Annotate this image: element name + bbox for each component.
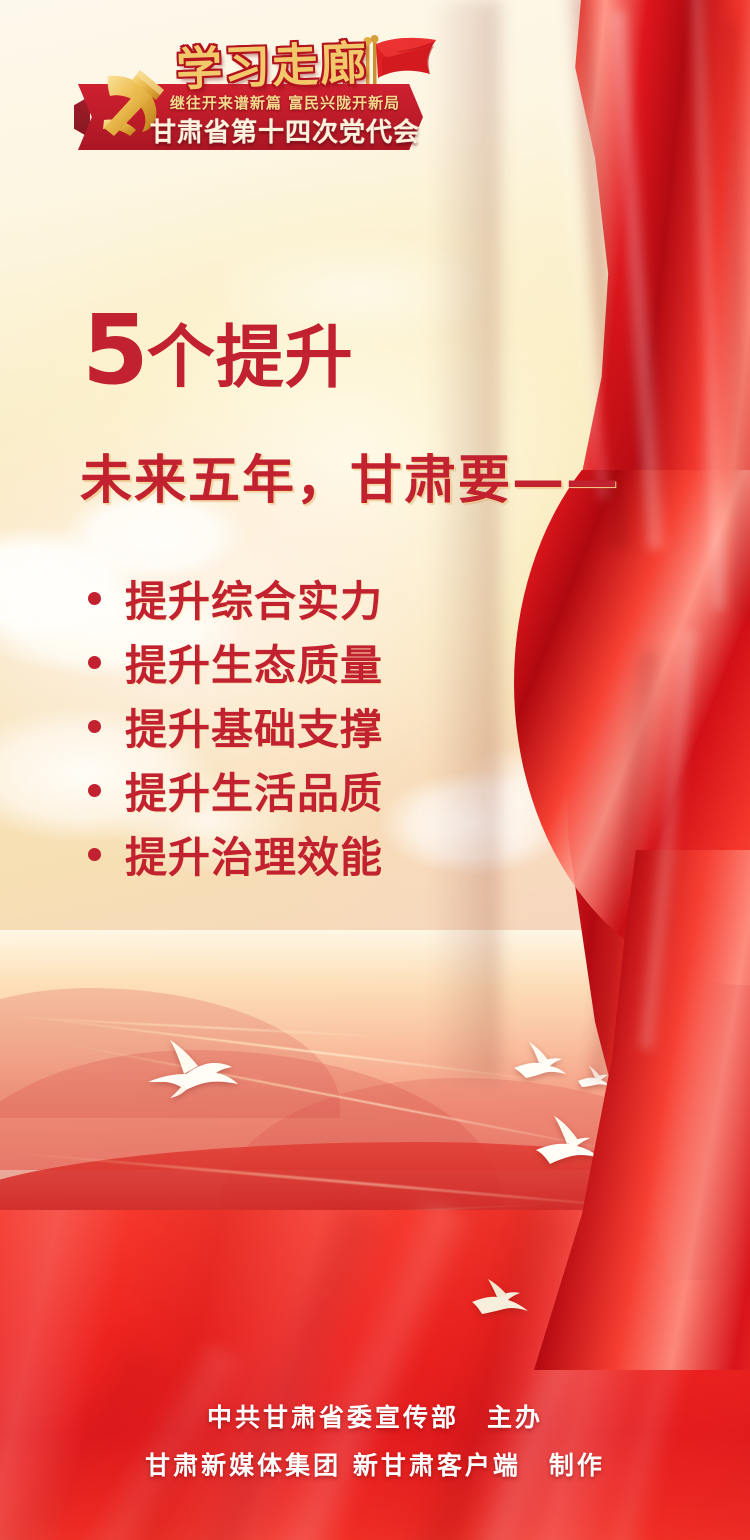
title-number: 5 [82,294,147,406]
page-subtitle: 未来五年，甘肃要—— [80,438,620,513]
bullet-dot-icon [88,784,101,797]
list-item-label: 提升生态质量 [125,632,383,693]
banner-congress-title: 甘肃省第十四次党代会 [150,112,420,149]
list-item: 提升治理效能 [88,822,508,886]
title-rest: 个提升 [147,319,354,398]
header-banner: 学习走廊 继往开来谱新篇 富民兴陇开新局 甘肃省第十四次党代会 [0,0,750,175]
list-item-label: 提升综合实力 [125,568,383,629]
list-item: 提升基础支撑 [88,694,508,758]
list-item: 提升生活品质 [88,758,508,822]
footer: 中共甘肃省委宣传部 主办 甘肃新媒体集团 新甘肃客户端 制作 [0,1398,750,1482]
bullet-dot-icon [88,656,101,669]
list-item-label: 提升生活品质 [125,760,383,821]
poster-root: 学习走廊 继往开来谱新篇 富民兴陇开新局 甘肃省第十四次党代会 5个提升 未来五… [0,0,750,1540]
list-item: 提升综合实力 [88,566,508,630]
page-title: 5个提升 [82,302,354,398]
list-item-label: 提升治理效能 [125,824,383,885]
bullet-dot-icon [88,592,101,605]
footer-producer: 甘肃新媒体集团 新甘肃客户端 制作 [0,1446,750,1482]
bullet-dot-icon [88,848,101,861]
bullet-list: 提升综合实力 提升生态质量 提升基础支撑 提升生活品质 提升治理效能 [88,566,508,886]
bullet-dot-icon [88,720,101,733]
calligraphy-title: 学习走廊 [175,27,377,96]
list-item: 提升生态质量 [88,630,508,694]
banner-slogan: 继往开来谱新篇 富民兴陇开新局 [160,92,410,113]
list-item-label: 提升基础支撑 [125,696,383,757]
footer-organizer: 中共甘肃省委宣传部 主办 [0,1398,750,1434]
